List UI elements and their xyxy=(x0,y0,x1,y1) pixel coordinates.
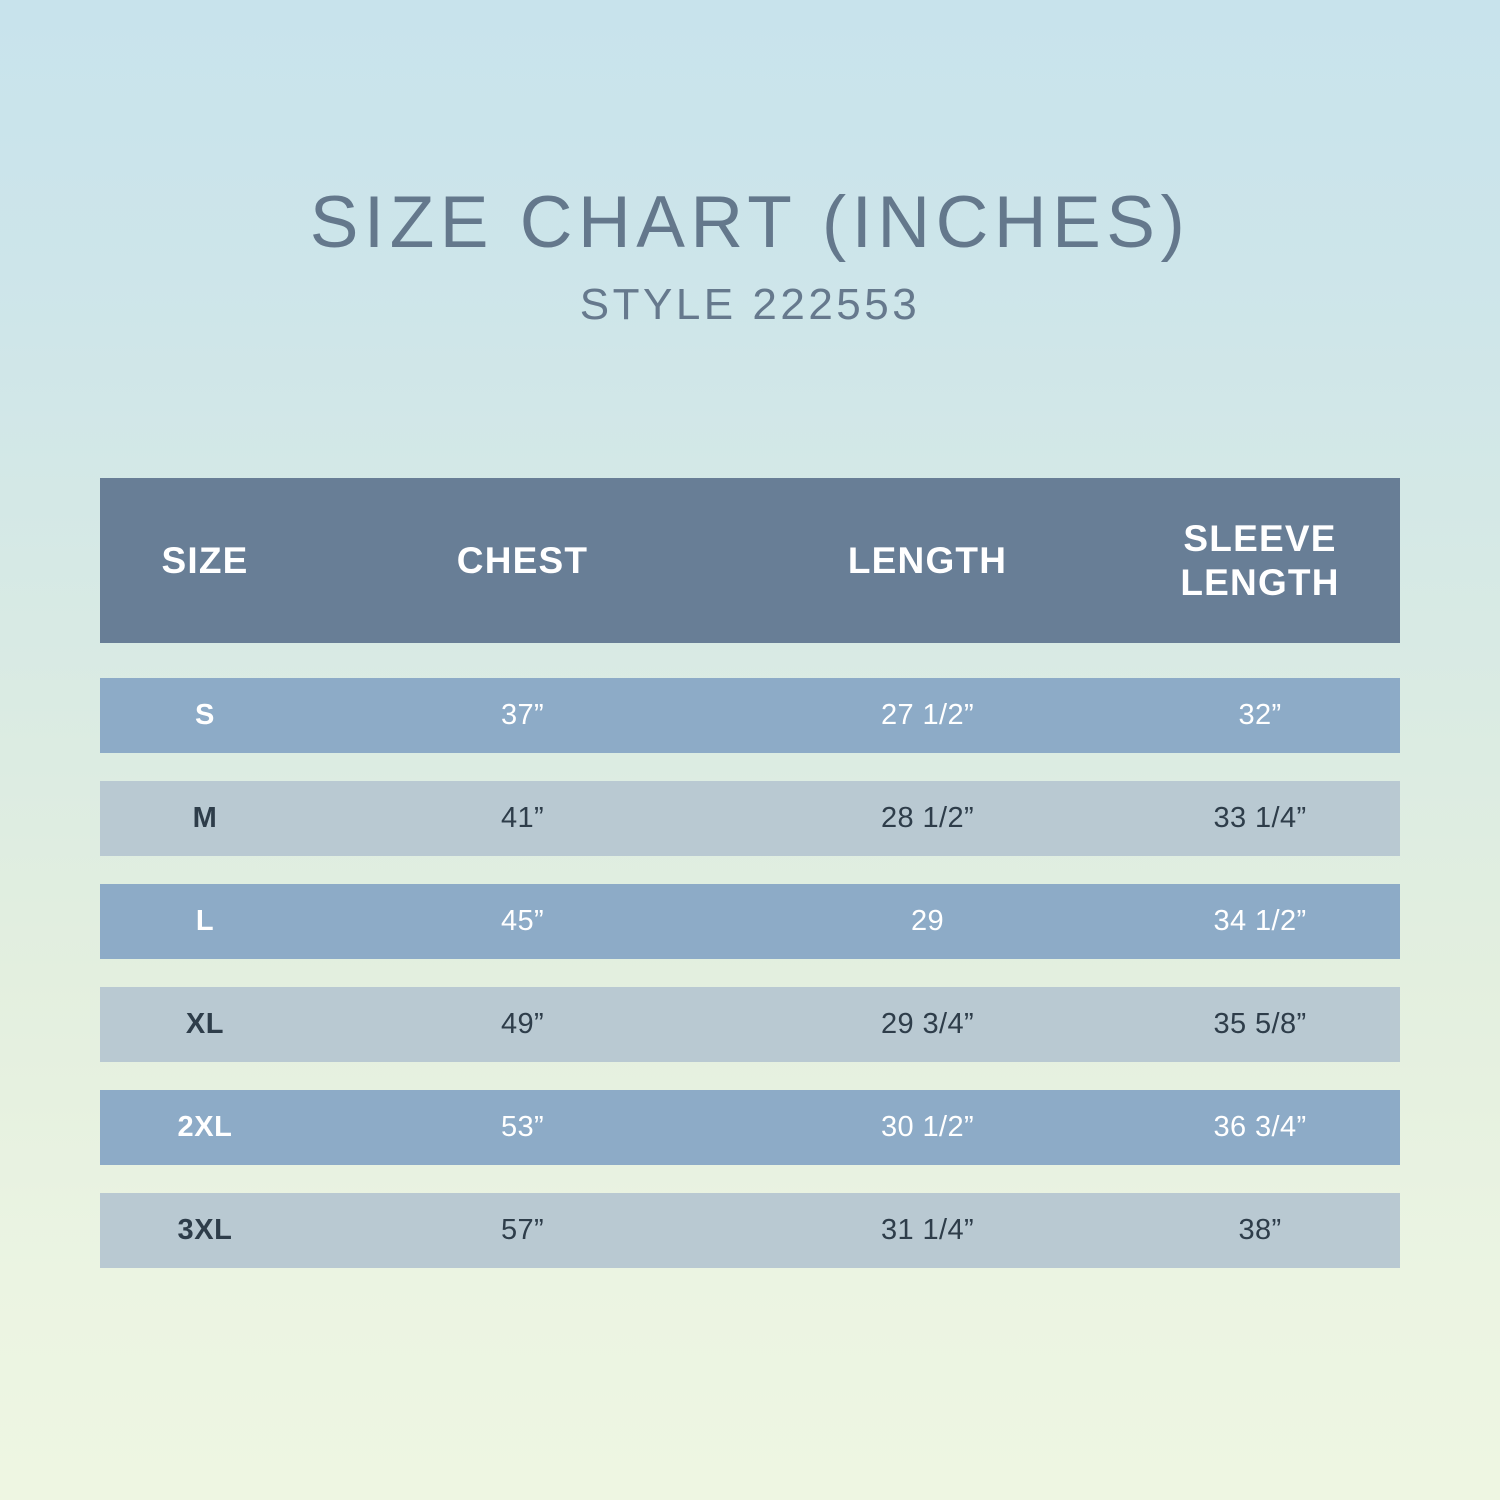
column-header-sleeve-length-line2: LENGTH xyxy=(1120,561,1400,605)
cell-length: 30 1/2” xyxy=(735,1111,1120,1144)
cell-size: S xyxy=(100,699,310,732)
cell-sleeve-length: 34 1/2” xyxy=(1120,905,1400,938)
cell-chest: 41” xyxy=(310,802,735,835)
table-row: XL 49” 29 3/4” 35 5/8” xyxy=(100,987,1400,1062)
cell-size: XL xyxy=(100,1008,310,1041)
cell-size: 2XL xyxy=(100,1111,310,1144)
cell-length: 27 1/2” xyxy=(735,699,1120,732)
cell-chest: 57” xyxy=(310,1214,735,1247)
cell-sleeve-length: 35 5/8” xyxy=(1120,1008,1400,1041)
cell-sleeve-length: 38” xyxy=(1120,1214,1400,1247)
cell-sleeve-length: 36 3/4” xyxy=(1120,1111,1400,1144)
page-subtitle: STYLE 222553 xyxy=(0,282,1500,328)
table-row: 2XL 53” 30 1/2” 36 3/4” xyxy=(100,1090,1400,1165)
column-header-sleeve-length-line1: SLEEVE xyxy=(1120,517,1400,561)
cell-sleeve-length: 32” xyxy=(1120,699,1400,732)
cell-sleeve-length: 33 1/4” xyxy=(1120,802,1400,835)
table-row: M 41” 28 1/2” 33 1/4” xyxy=(100,781,1400,856)
column-header-size: SIZE xyxy=(100,539,310,583)
cell-size: M xyxy=(100,802,310,835)
cell-chest: 45” xyxy=(310,905,735,938)
cell-size: 3XL xyxy=(100,1214,310,1247)
table-row: S 37” 27 1/2” 32” xyxy=(100,678,1400,753)
heading-block: SIZE CHART (INCHES) STYLE 222553 xyxy=(0,186,1500,329)
table-row: L 45” 29 34 1/2” xyxy=(100,884,1400,959)
size-chart-page: SIZE CHART (INCHES) STYLE 222553 SIZE CH… xyxy=(0,0,1500,1500)
cell-length: 28 1/2” xyxy=(735,802,1120,835)
cell-length: 29 3/4” xyxy=(735,1008,1120,1041)
column-header-length: LENGTH xyxy=(735,539,1120,583)
cell-chest: 53” xyxy=(310,1111,735,1144)
cell-chest: 49” xyxy=(310,1008,735,1041)
page-title: SIZE CHART (INCHES) xyxy=(0,186,1500,260)
cell-size: L xyxy=(100,905,310,938)
cell-chest: 37” xyxy=(310,699,735,732)
cell-length: 31 1/4” xyxy=(735,1214,1120,1247)
table-row: 3XL 57” 31 1/4” 38” xyxy=(100,1193,1400,1268)
table-header-row: SIZE CHEST LENGTH SLEEVE LENGTH xyxy=(100,478,1400,643)
column-header-chest: CHEST xyxy=(310,539,735,583)
size-chart-table: SIZE CHEST LENGTH SLEEVE LENGTH S 37” 27… xyxy=(100,478,1400,1296)
column-header-sleeve-length: SLEEVE LENGTH xyxy=(1120,517,1400,604)
cell-length: 29 xyxy=(735,905,1120,938)
